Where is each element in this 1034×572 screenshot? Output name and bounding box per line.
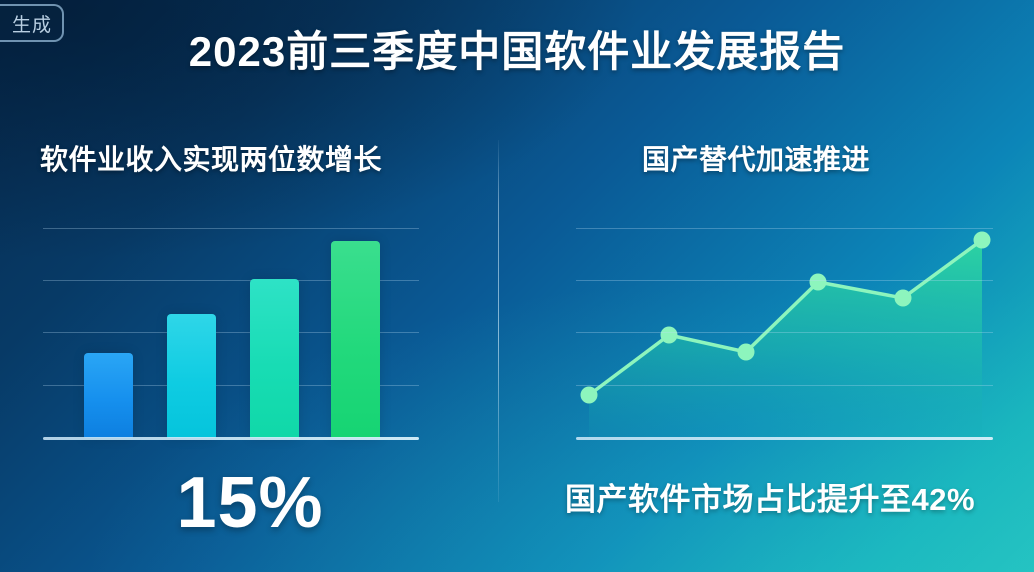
panel-left-heading: 软件业收入实现两位数增长 — [20, 120, 480, 178]
line-chart-svg — [576, 220, 993, 440]
left-stat-value: 15% — [20, 462, 480, 544]
line-chart-point — [895, 290, 912, 307]
bar-chart — [43, 220, 419, 440]
generate-chip[interactable]: 生成 — [0, 4, 64, 42]
gridline — [576, 385, 993, 386]
bar-2 — [167, 314, 216, 438]
bar-4 — [331, 241, 380, 438]
slide-canvas: 生成 2023前三季度中国软件业发展报告 软件业收入实现两位数增长 15% 国产… — [0, 0, 1034, 572]
gridline — [576, 280, 993, 281]
panel-divider — [498, 140, 499, 502]
line-chart — [576, 220, 993, 440]
page-title: 2023前三季度中国软件业发展报告 — [0, 18, 1034, 79]
line-chart-point — [581, 387, 598, 404]
line-chart-point — [810, 274, 827, 291]
gridline — [576, 332, 993, 333]
line-chart-point — [738, 344, 755, 361]
panel-right-heading: 国产替代加速推进 — [520, 120, 1020, 178]
line-chart-point — [974, 232, 991, 249]
gridline — [43, 228, 419, 229]
gridline — [576, 228, 993, 229]
line-chart-axis — [576, 437, 993, 440]
bar-chart-axis — [43, 437, 419, 440]
line-chart-point — [661, 327, 678, 344]
bar-1 — [84, 353, 133, 438]
bar-3 — [250, 279, 299, 438]
right-stat-value: 国产软件市场占比提升至42% — [520, 474, 1020, 519]
line-chart-area — [589, 240, 982, 437]
generate-chip-label: 生成 — [12, 10, 52, 37]
